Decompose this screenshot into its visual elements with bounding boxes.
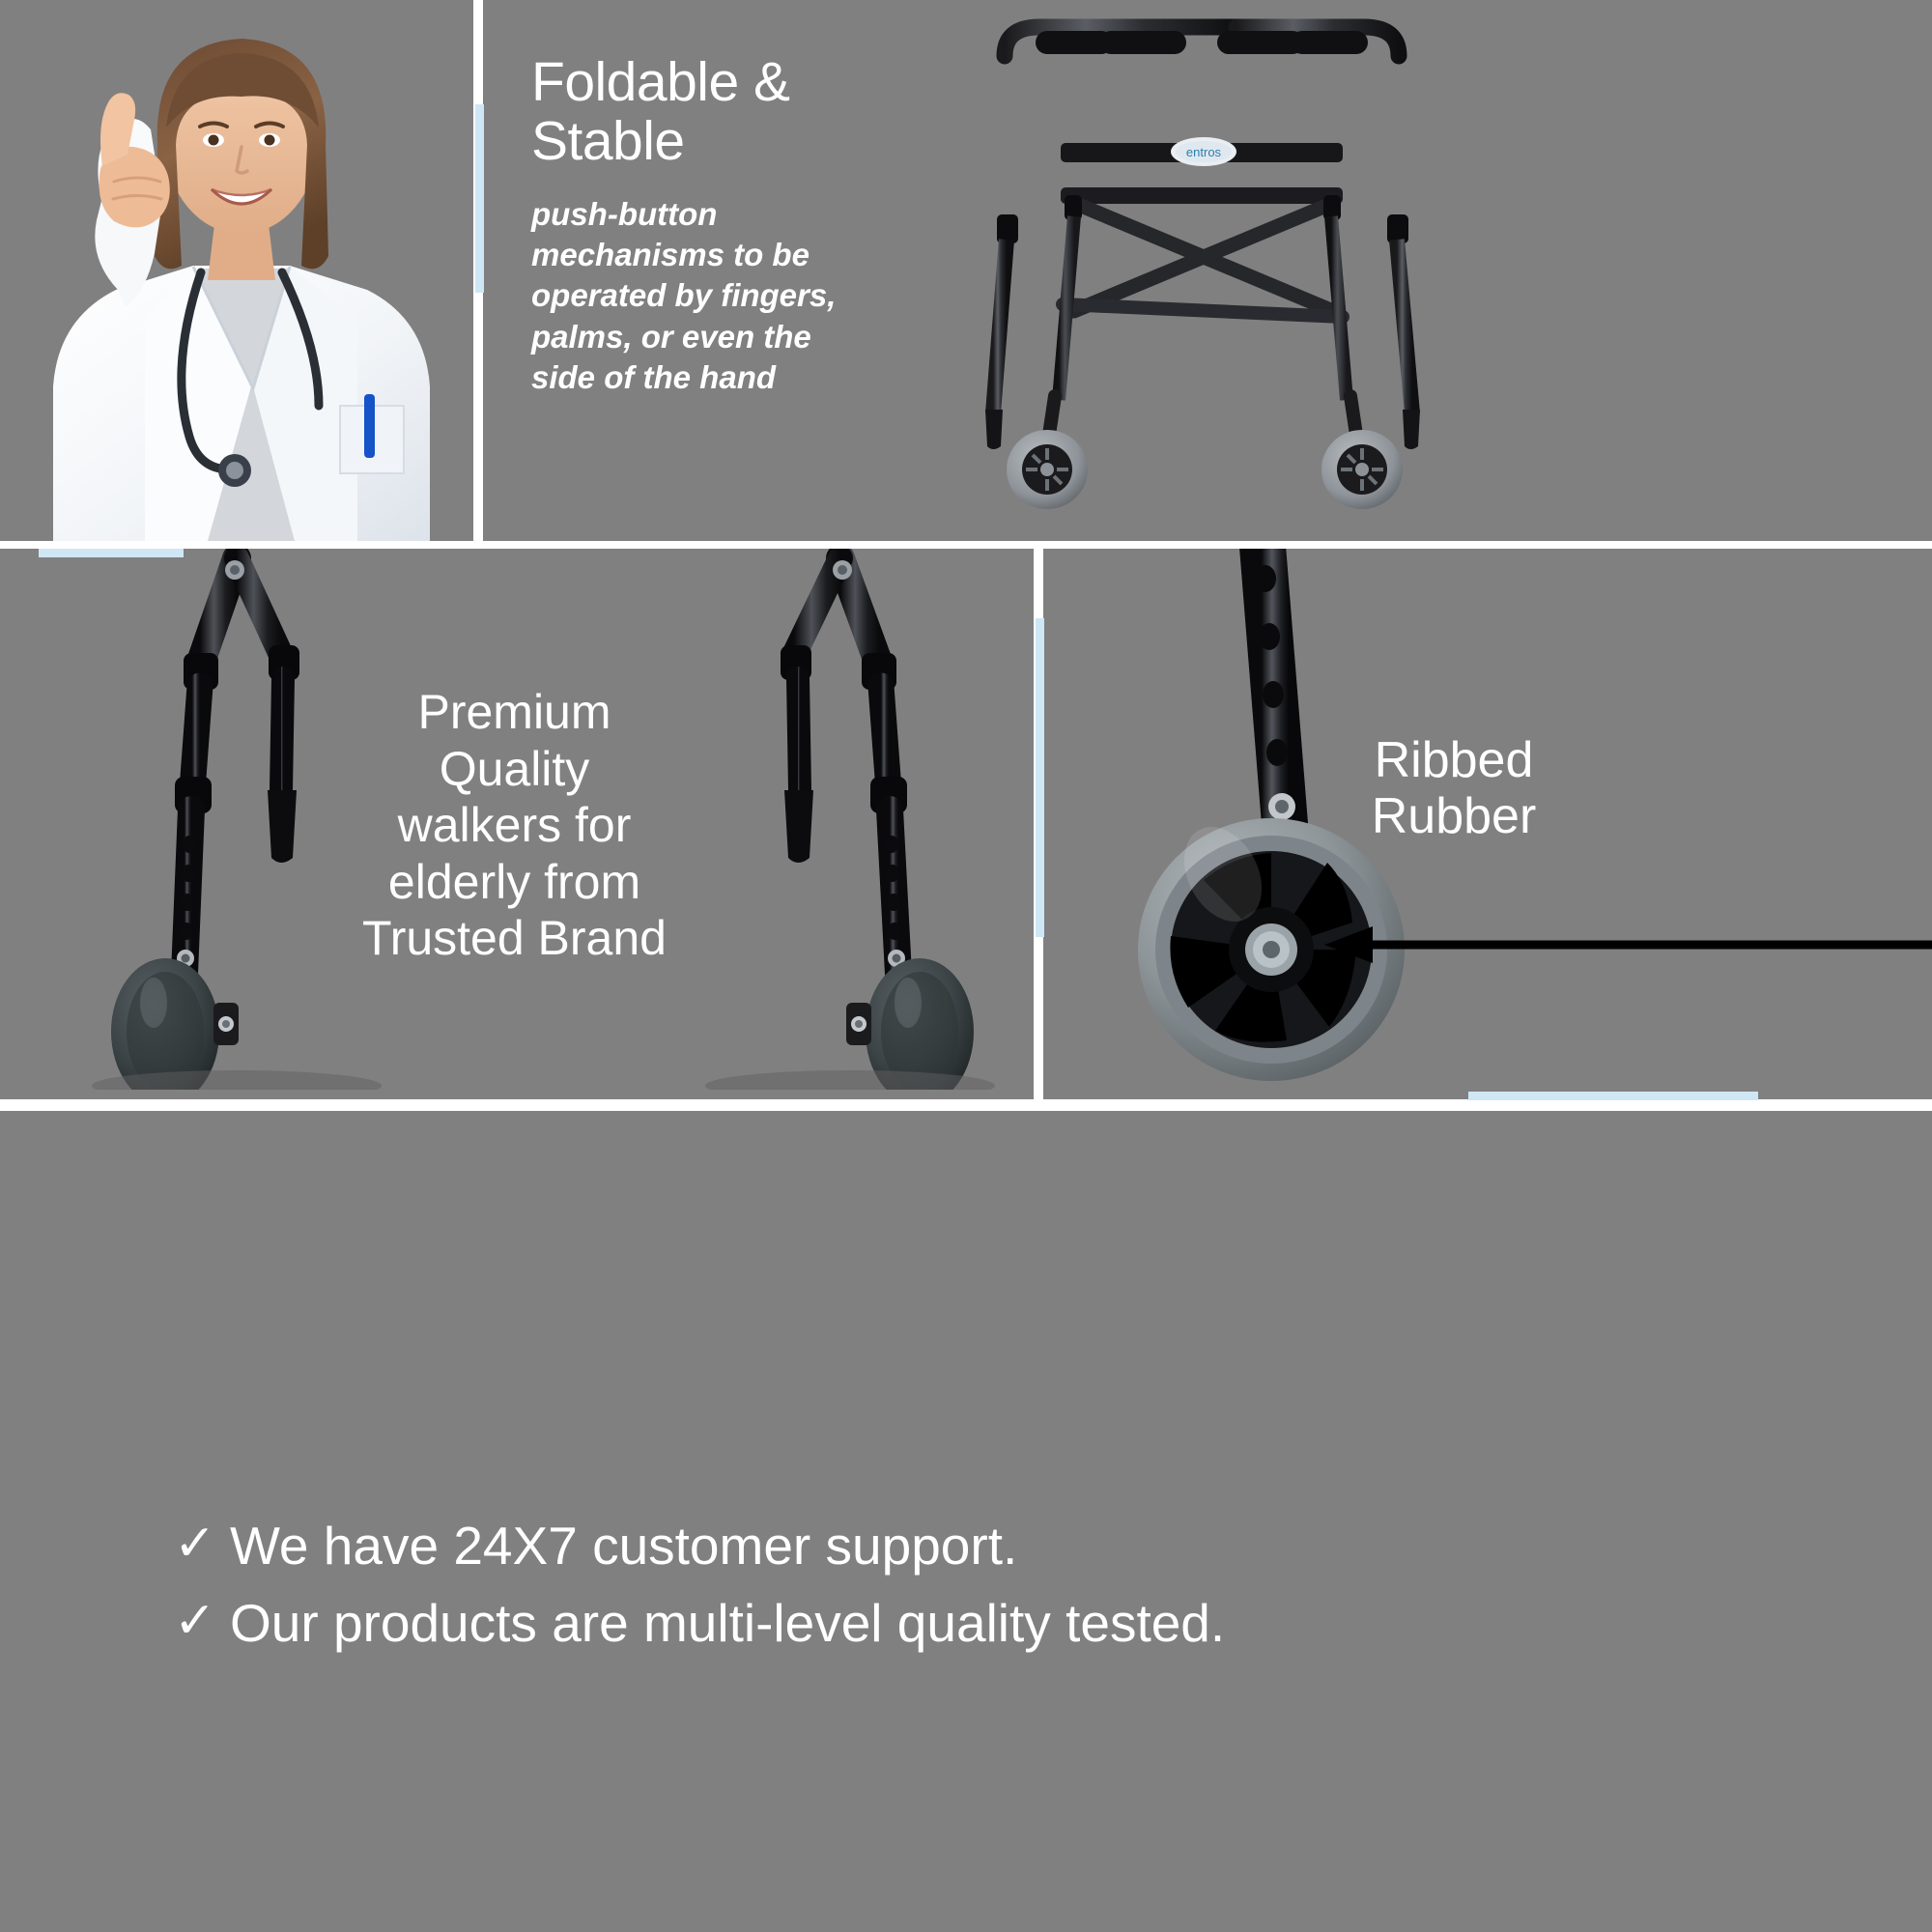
infographic-canvas: Foldable & Stable push-button mechanisms… [0, 0, 1932, 1932]
guarantee-text: Our products are multi-level quality tes… [230, 1589, 1623, 1657]
foldable-stable-panel: Foldable & Stable push-button mechanisms… [483, 0, 1932, 541]
foldable-body-text: push-button mechanisms to be operated by… [531, 194, 850, 398]
list-item: ✓ Our products are multi-level quality t… [174, 1589, 1623, 1657]
left-arrow-icon [1319, 925, 1932, 964]
walker-leg-right-illustration [667, 549, 995, 1090]
premium-line-5: Trusted Brand [343, 910, 686, 967]
ribbed-text-block: Ribbed Rubber [1251, 732, 1657, 844]
premium-quality-panel: Premium Quality walkers for elderly from… [0, 549, 1034, 1099]
guarantee-text: We have 24X7 customer support. [230, 1512, 1623, 1579]
check-icon: ✓ [174, 1589, 230, 1654]
svg-text:entros: entros [1186, 145, 1222, 159]
premium-line-4: elderly from [343, 854, 686, 911]
premium-line-1: Premium [343, 684, 686, 741]
pointer-arrow-wrap [1319, 925, 1932, 964]
premium-text-block: Premium Quality walkers for elderly from… [343, 684, 686, 967]
doctor-illustration [0, 0, 473, 541]
foldable-title-line1: Foldable & [531, 53, 850, 112]
guarantees-panel: ✓ We have 24X7 customer support. ✓ Our p… [0, 1111, 1932, 1932]
doctor-photo-panel [0, 0, 473, 541]
premium-line-2: Quality [343, 741, 686, 798]
foldable-title-line2: Stable [531, 112, 850, 171]
guarantees-list: ✓ We have 24X7 customer support. ✓ Our p… [174, 1512, 1623, 1667]
ribbed-rubber-panel: Ribbed Rubber [1043, 549, 1932, 1099]
premium-line-3: walkers for [343, 797, 686, 854]
walker-frame-illustration: entros [947, 10, 1488, 536]
foldable-text-block: Foldable & Stable push-button mechanisms… [531, 53, 850, 398]
ribbed-line-2: Rubber [1251, 788, 1657, 844]
list-item: ✓ We have 24X7 customer support. [174, 1512, 1623, 1579]
ribbed-line-1: Ribbed [1251, 732, 1657, 788]
check-icon: ✓ [174, 1512, 230, 1577]
